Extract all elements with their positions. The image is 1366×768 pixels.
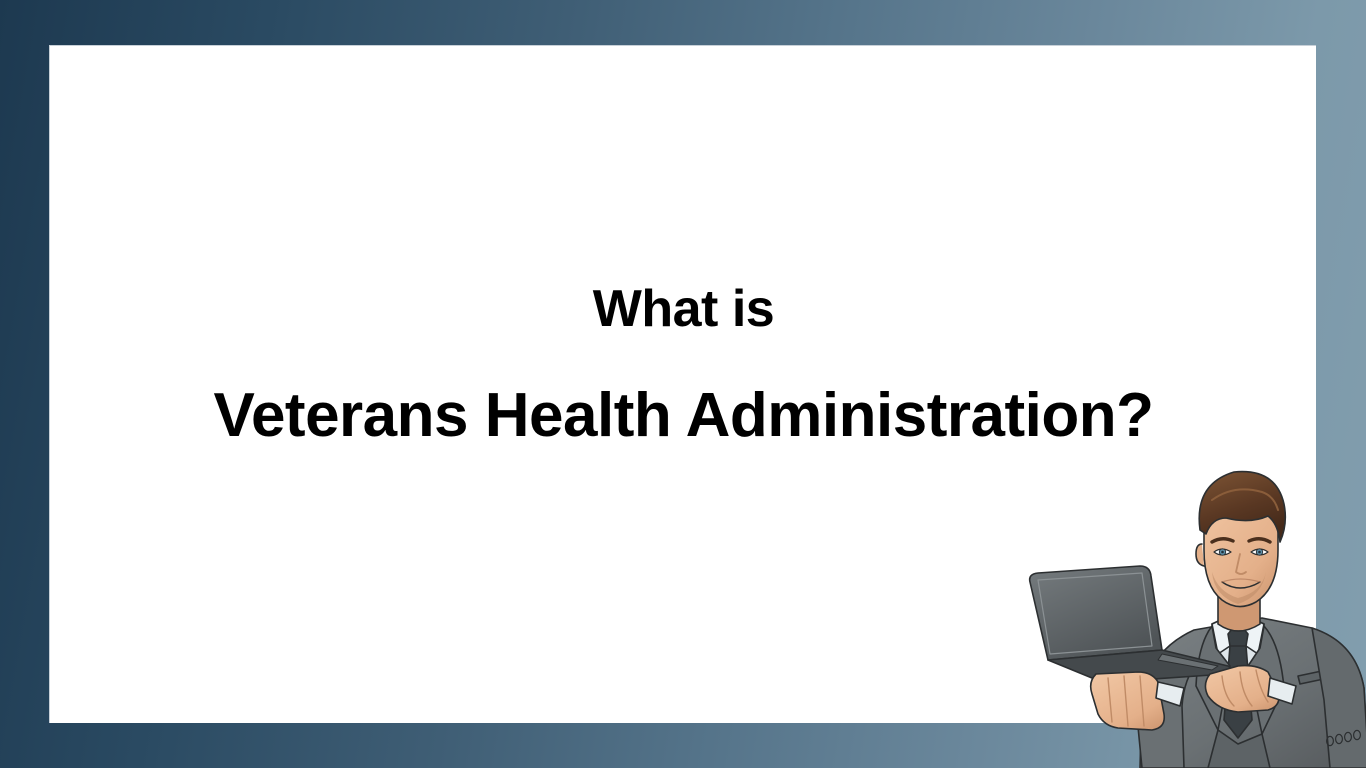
title-line-1: What is [50, 278, 1317, 340]
slide-canvas: What is Veterans Health Administration? [0, 0, 1366, 768]
sleeve-right [1312, 628, 1366, 768]
title-line-2: Veterans Health Administration? [50, 380, 1317, 452]
page-title: What is Veterans Health Administration? [50, 278, 1317, 452]
sleeve-buttons [1327, 730, 1361, 745]
jacket-front-shadow [1208, 730, 1270, 768]
content-panel: What is Veterans Health Administration? [49, 45, 1316, 723]
